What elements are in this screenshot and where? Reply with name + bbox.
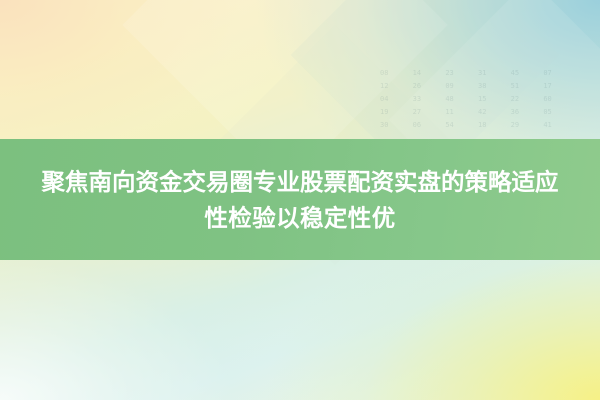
headline-line-1: 聚焦南向资金交易圈专业股票配资实盘的策略适应 [10,164,590,200]
headline-band: 聚焦南向资金交易圈专业股票配资实盘的策略适应 性检验以稳定性优 [0,139,600,260]
article-header-banner: 08 14 23 31 45 07 12 26 09 38 51 17 04 3… [0,0,600,400]
headline-line-2: 性检验以稳定性优 [10,200,590,236]
